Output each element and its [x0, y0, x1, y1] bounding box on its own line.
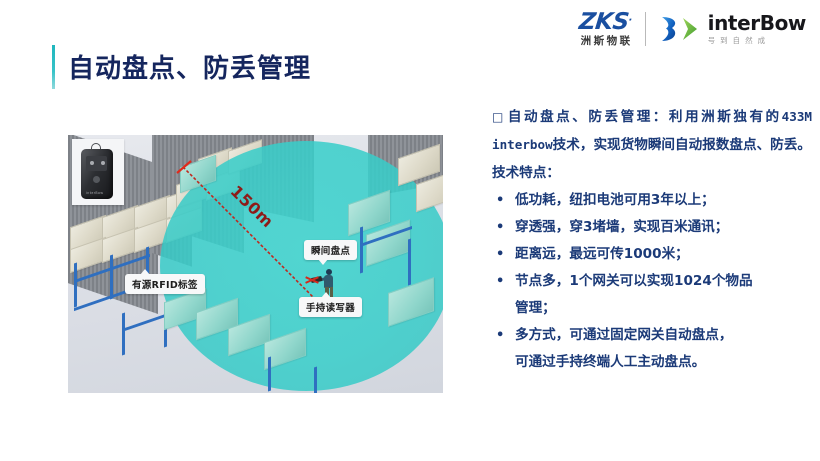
- list-item-text-continued: 管理；: [515, 295, 812, 322]
- bullet-dot-icon: •: [496, 187, 504, 214]
- logo-divider: [645, 12, 646, 46]
- zks-logo: ZKS. 洲斯物联: [579, 11, 633, 47]
- rack-upright: [408, 238, 411, 285]
- interbow-logo: interBow 号到自然成: [658, 13, 806, 45]
- zks-chinese-name: 洲斯物联: [579, 36, 633, 47]
- red-x-marker-icon: [305, 274, 319, 286]
- interbow-text-group: interBow 号到自然成: [708, 13, 806, 45]
- zks-wordmark: ZKS.: [578, 11, 633, 34]
- interbow-green-chevron-icon: [682, 16, 699, 42]
- callout-active-rfid-tag: 有源RFID标签: [125, 274, 205, 294]
- title-accent-bar: [52, 45, 55, 89]
- device-body: interBow: [81, 149, 113, 199]
- list-item: • 多方式，可通过固定网关自动盘点， 可通过手持终端人工主动盘点。: [492, 322, 812, 376]
- bullet-dot-icon: •: [496, 268, 504, 295]
- device-screen-dot: [101, 161, 105, 165]
- device-brand-text: interBow: [86, 191, 103, 195]
- list-item-text: 节点多，1个网关可以实现1024个物品: [515, 273, 753, 289]
- rack-upright: [110, 254, 113, 299]
- interbow-tagline: 号到自然成: [708, 37, 806, 45]
- list-item: • 节点多，1个网关可以实现1024个物品 管理；: [492, 268, 812, 322]
- device-inset-photo: interBow: [72, 139, 124, 205]
- rack-upright: [314, 366, 317, 393]
- features-subheading: 技术特点：: [492, 160, 812, 187]
- list-item-text: 多方式，可通过固定网关自动盘点，: [515, 327, 733, 343]
- device-button: [93, 176, 100, 183]
- list-item-text-continued: 可通过手持终端人工主动盘点。: [515, 349, 812, 376]
- zks-wordmark-dot: .: [629, 13, 633, 24]
- warehouse-illustration: 150m interBow 有源RFID标签 瞬间盘点 手持读写器: [68, 135, 443, 393]
- intro-paragraph: □自动盘点、防丢管理：利用洲斯独有的433M interbow技术，实现货物瞬间…: [492, 103, 812, 159]
- list-item: • 距离远，最远可传1000米；: [492, 241, 812, 268]
- interbow-mark-group: [658, 14, 699, 44]
- rack-upright: [268, 356, 271, 391]
- interbow-wordmark-bow: Bow: [760, 11, 806, 35]
- bullet-dot-icon: •: [496, 241, 504, 268]
- features-list: • 低功耗，纽扣电池可用3年以上； • 穿透强，穿3堵墙，实现百米通讯； • 距…: [492, 187, 812, 376]
- rack-upright: [122, 312, 125, 355]
- intro-segment-1: 自动盘点、防丢管理：利用洲斯独有的: [508, 109, 782, 125]
- callout-instant-inventory: 瞬间盘点: [304, 240, 357, 260]
- rack-upright: [360, 226, 363, 273]
- callout-handheld-reader: 手持读写器: [299, 297, 362, 317]
- list-item: • 低功耗，纽扣电池可用3年以上；: [492, 187, 812, 214]
- interbow-wordmark: interBow: [708, 13, 806, 33]
- bullet-dot-icon: •: [496, 322, 504, 349]
- list-item-text: 距离远，最远可传1000米；: [515, 246, 689, 262]
- header-logo-bar: ZKS. 洲斯物联: [579, 8, 806, 50]
- device-screen-dot: [90, 161, 94, 165]
- square-bullet-icon: □: [492, 110, 506, 124]
- list-item-text: 低功耗，纽扣电池可用3年以上；: [515, 192, 715, 208]
- page-title: 自动盘点、防丢管理: [68, 48, 311, 85]
- bullet-dot-icon: •: [496, 214, 504, 241]
- intro-segment-2: 技术，实现货物瞬间自动报数盘点、防丢。: [553, 137, 811, 153]
- interbow-blue-bow-icon: [658, 14, 682, 44]
- content-text-column: □自动盘点、防丢管理：利用洲斯独有的433M interbow技术，实现货物瞬间…: [492, 103, 812, 376]
- list-item: • 穿透强，穿3堵墙，实现百米通讯；: [492, 214, 812, 241]
- rack-upright: [74, 262, 77, 307]
- list-item-text: 穿透强，穿3堵墙，实现百米通讯；: [515, 219, 728, 235]
